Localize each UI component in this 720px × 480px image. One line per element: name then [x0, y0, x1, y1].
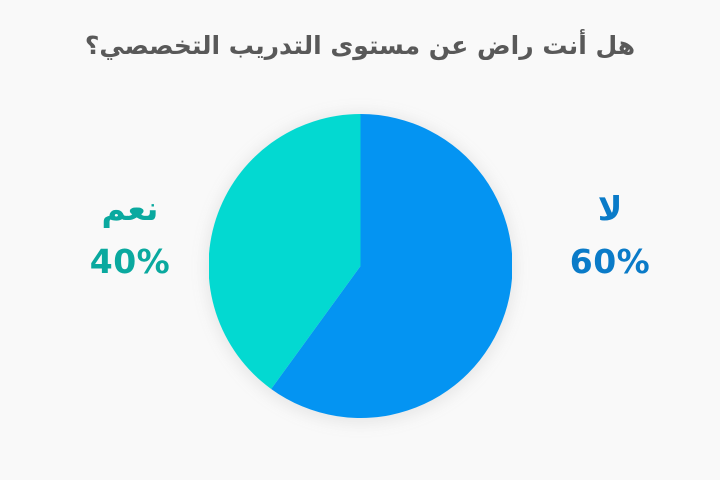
slice-label-naam-value: 40% — [40, 245, 220, 278]
pie-svg — [209, 114, 512, 418]
pie-chart-area — [209, 114, 512, 418]
slice-label-la: لا 60% — [520, 192, 700, 278]
slice-label-la-name: لا — [520, 192, 700, 225]
pie-chart-figure: هل أنت راض عن مستوى التدريب التخصصي؟ نعم… — [0, 0, 720, 480]
slice-label-la-value: 60% — [520, 245, 700, 278]
slice-label-naam-name: نعم — [40, 192, 220, 225]
slice-label-naam: نعم 40% — [40, 192, 220, 278]
chart-title: هل أنت راض عن مستوى التدريب التخصصي؟ — [0, 30, 720, 61]
